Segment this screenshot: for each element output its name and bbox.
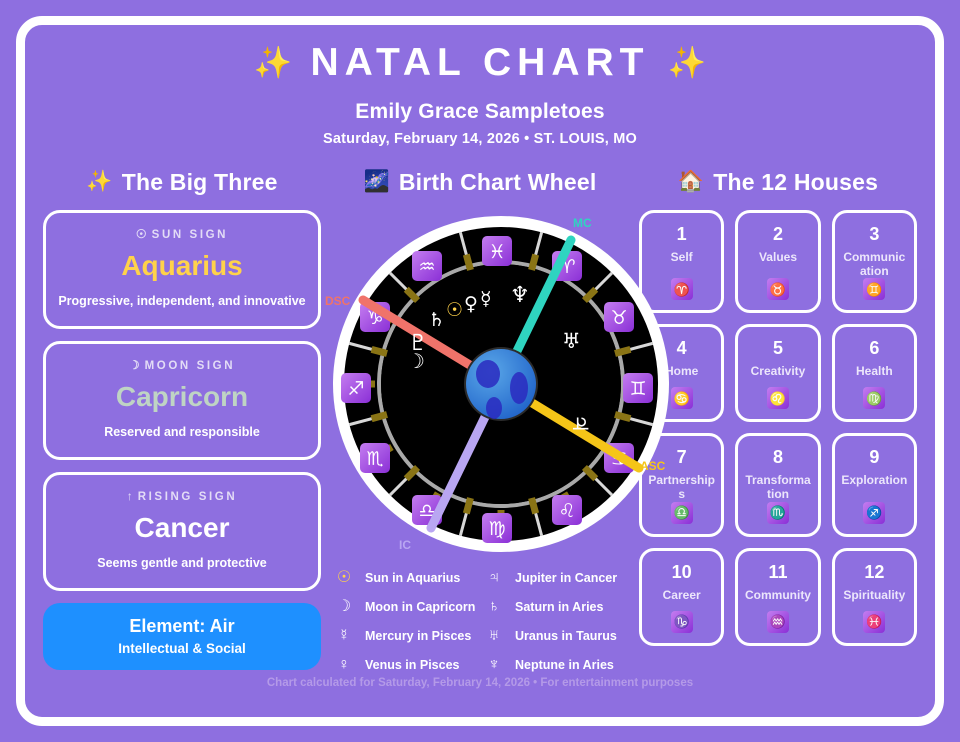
list-item: ♅ Uranus in Taurus	[483, 628, 627, 644]
house-sign-icon: ♐	[863, 502, 885, 524]
house-number: 3	[869, 225, 879, 245]
big-three-column: ✨ The Big Three ☉SUN SIGN Aquarius Progr…	[43, 169, 321, 670]
house-name: Exploration	[841, 474, 907, 488]
zodiac-chip-taurus: ♉	[610, 307, 627, 329]
moon-sign-card[interactable]: ☽MOON SIGN Capricorn Reserved and respon…	[43, 341, 321, 460]
planet-placements-list: ☉ Sun in Aquarius ♃ Jupiter in Cancer ☽ …	[327, 570, 633, 673]
houses-heading: 🏠 The 12 Houses	[639, 169, 917, 196]
house-sign-icon: ♑	[671, 611, 693, 633]
wheel-heading-text: Birth Chart Wheel	[399, 169, 597, 196]
moon-sign-value: Capricorn	[56, 382, 308, 413]
house-name: Communication	[841, 251, 908, 279]
planet-glyph-moon: ☽	[407, 349, 425, 373]
house-number: 9	[869, 448, 879, 468]
wheel-column: 🌌 Birth Chart Wheel	[321, 169, 639, 673]
moon-icon: ☽	[129, 358, 140, 372]
planet-glyph-neptune: ♆	[510, 283, 530, 308]
sun-icon: ☉	[136, 227, 147, 241]
house-number: 11	[768, 563, 787, 583]
zodiac-chip-leo: ♌	[558, 500, 575, 522]
house-number: 12	[864, 563, 884, 583]
zodiac-chip-sagittarius: ♐	[347, 378, 364, 400]
planet-placement-text: Jupiter in Cancer	[515, 571, 617, 585]
page-content: ✨ NATAL CHART ✨ Emily Grace Sampletoes S…	[25, 25, 935, 717]
sun-sign-description: Progressive, independent, and innovative	[56, 293, 308, 309]
planet-placement-text: Neptune in Aries	[515, 658, 614, 672]
galaxy-icon: 🌌	[364, 170, 390, 194]
planet-placement-text: Moon in Capricorn	[365, 600, 475, 614]
big-three-heading-text: The Big Three	[122, 169, 278, 196]
planet-glyph-saturn: ♄	[428, 309, 445, 331]
planet-placement-text: Mercury in Pisces	[365, 629, 471, 643]
houses-heading-text: The 12 Houses	[713, 169, 878, 196]
saturn-glyph-icon: ♄	[483, 599, 505, 615]
person-name: Emily Grace Sampletoes	[25, 100, 935, 124]
three-column-layout: ✨ The Big Three ☉SUN SIGN Aquarius Progr…	[25, 169, 935, 673]
asc-axis-label: ASC	[640, 459, 665, 473]
sun-sign-label: ☉SUN SIGN	[56, 227, 308, 241]
house-card-8[interactable]: 8 Transformation ♏	[735, 433, 820, 536]
house-icon: 🏠	[678, 170, 704, 194]
house-number: 6	[869, 339, 879, 359]
house-sign-icon: ♌	[767, 387, 789, 409]
planet-placement-text: Venus in Pisces	[365, 658, 460, 672]
zodiac-chip-aquarius: ♒	[418, 256, 435, 278]
sparkle-icon-left: ✨	[254, 47, 293, 80]
sparkle-icon-right: ✨	[667, 47, 706, 80]
element-title: Element: Air	[53, 616, 311, 637]
planet-placement-text: Uranus in Taurus	[515, 629, 617, 643]
list-item: ♀ Venus in Pisces	[333, 657, 477, 673]
jupiter-glyph-icon: ♃	[483, 570, 505, 586]
zodiac-chip-gemini: ♊	[629, 378, 646, 400]
natal-chart-page: ✨ NATAL CHART ✨ Emily Grace Sampletoes S…	[0, 0, 960, 742]
planet-placement-text: Sun in Aquarius	[365, 571, 460, 585]
planet-glyph-mercury: ☿	[480, 288, 492, 310]
birth-datetime-location: Saturday, February 14, 2026 • ST. LOUIS,…	[25, 131, 935, 147]
house-card-2[interactable]: 2 Values ♉	[735, 210, 820, 313]
moon-sign-description: Reserved and responsible	[56, 424, 308, 440]
house-name: Career	[663, 589, 701, 603]
house-number: 1	[677, 225, 687, 245]
house-card-11[interactable]: 11 Community ♒	[735, 548, 820, 646]
house-name: Values	[759, 251, 797, 265]
house-sign-icon: ♉	[767, 278, 789, 300]
house-sign-icon: ♓	[863, 611, 885, 633]
house-name: Transformation	[744, 474, 811, 502]
sun-glyph-icon: ☉	[333, 570, 355, 586]
element-subtitle: Intellectual & Social	[53, 641, 311, 656]
sun-sign-card[interactable]: ☉SUN SIGN Aquarius Progressive, independ…	[43, 210, 321, 329]
moon-sign-label-text: MOON SIGN	[145, 360, 236, 372]
list-item: ♄ Saturn in Aries	[483, 599, 627, 615]
planet-glyph-uranus: ♅	[562, 329, 581, 353]
planet-glyph-venus: ♀	[464, 293, 478, 315]
rising-sign-label-text: RISING SIGN	[138, 491, 238, 503]
house-sign-icon: ♒	[767, 611, 789, 633]
big-three-heading: ✨ The Big Three	[43, 169, 321, 196]
house-card-5[interactable]: 5 Creativity ♌	[735, 324, 820, 422]
arrow-up-icon: ↑	[127, 489, 133, 503]
dsc-axis-label: DSC	[325, 294, 350, 308]
house-sign-icon: ♍	[863, 387, 885, 409]
house-card-12[interactable]: 12 Spirituality ♓	[832, 548, 917, 646]
rising-sign-card[interactable]: ↑RISING SIGN Cancer Seems gentle and pro…	[43, 472, 321, 591]
birth-chart-wheel[interactable]: ♓ ♈ ♉ ♊ ♋ ♌ ♍ ♎ ♏ ♐ ♑ ♒	[327, 210, 675, 558]
house-card-10[interactable]: 10 Career ♑	[639, 548, 724, 646]
list-item: ☿ Mercury in Pisces	[333, 628, 477, 644]
moon-glyph-icon: ☽	[333, 599, 355, 615]
list-item: ☉ Sun in Aquarius	[333, 570, 477, 586]
list-item: ♆ Neptune in Aries	[483, 657, 627, 673]
house-number: 8	[773, 448, 783, 468]
house-number: 10	[672, 563, 692, 583]
page-header: ✨ NATAL CHART ✨ Emily Grace Sampletoes S…	[25, 25, 935, 147]
chart-footnote: Chart calculated for Saturday, February …	[25, 677, 935, 689]
venus-glyph-icon: ♀	[333, 657, 355, 673]
list-item: ♃ Jupiter in Cancer	[483, 570, 627, 586]
zodiac-chip-pisces: ♓	[488, 241, 505, 263]
rising-sign-value: Cancer	[56, 513, 308, 544]
rising-sign-description: Seems gentle and protective	[56, 555, 308, 571]
uranus-glyph-icon: ♅	[483, 628, 505, 644]
mc-axis-label: MC	[573, 216, 592, 230]
house-name: Health	[856, 365, 893, 379]
page-title-text: NATAL CHART	[311, 43, 650, 84]
houses-column: 🏠 The 12 Houses 1 Self ♈ 2 Values ♉	[639, 169, 917, 646]
list-item: ☽ Moon in Capricorn	[333, 599, 477, 615]
house-number: 5	[773, 339, 783, 359]
house-number: 4	[677, 339, 687, 359]
house-card-9[interactable]: 9 Exploration ♐	[832, 433, 917, 536]
planet-glyph-sun: ☉	[446, 299, 463, 321]
page-title: ✨ NATAL CHART ✨	[25, 43, 935, 84]
neptune-glyph-icon: ♆	[483, 657, 505, 673]
sun-sign-label-text: SUN SIGN	[152, 229, 228, 241]
planet-placement-text: Saturn in Aries	[515, 600, 603, 614]
moon-sign-label: ☽MOON SIGN	[56, 358, 308, 372]
sun-sign-value: Aquarius	[56, 251, 308, 282]
house-number: 2	[773, 225, 783, 245]
sparkle-icon: ✨	[86, 170, 112, 194]
house-name: Spirituality	[843, 589, 905, 603]
wheel-svg: ♓ ♈ ♉ ♊ ♋ ♌ ♍ ♎ ♏ ♐ ♑ ♒	[327, 210, 675, 558]
house-number: 7	[677, 448, 687, 468]
house-name: Community	[745, 589, 811, 603]
house-card-6[interactable]: 6 Health ♍	[832, 324, 917, 422]
zodiac-chip-virgo: ♍	[488, 518, 505, 540]
house-name: Creativity	[751, 365, 806, 379]
ic-axis-label: IC	[399, 538, 411, 552]
element-badge[interactable]: Element: Air Intellectual & Social	[43, 603, 321, 670]
houses-grid: 1 Self ♈ 2 Values ♉ 3 Communication ♊	[639, 210, 917, 646]
planet-glyph-jupiter: ♃	[568, 414, 592, 433]
rising-sign-label: ↑RISING SIGN	[56, 489, 308, 503]
zodiac-chip-scorpio: ♏	[366, 448, 383, 470]
house-card-3[interactable]: 3 Communication ♊	[832, 210, 917, 313]
house-sign-icon: ♏	[767, 502, 789, 524]
house-sign-icon: ♊	[863, 278, 885, 300]
mercury-glyph-icon: ☿	[333, 628, 355, 644]
wheel-heading: 🌌 Birth Chart Wheel	[327, 169, 633, 196]
